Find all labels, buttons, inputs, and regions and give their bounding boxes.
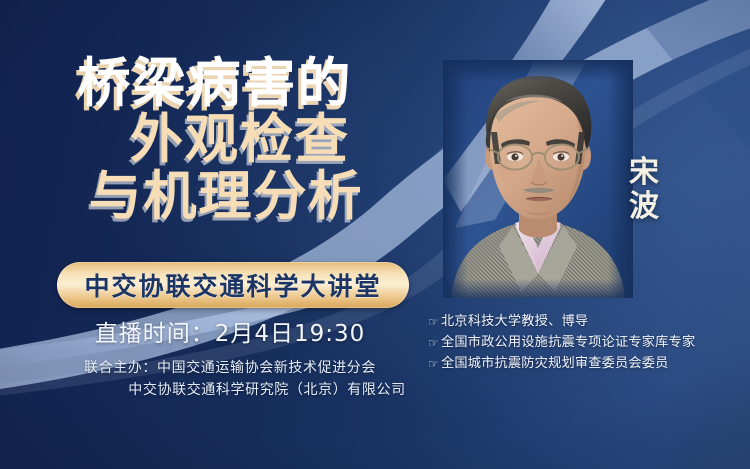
credential-item: ☞ 北京科技大学教授、博导 bbox=[428, 312, 743, 333]
credential-text: 全国市政公用设施抗震专项论证专家库专家 bbox=[441, 333, 695, 354]
page-title: 桥梁病害的 外观检查 与机理分析 bbox=[0, 58, 420, 223]
organizer-line-2: 中交协联交通科学研究院（北京）有限公司 bbox=[0, 380, 460, 402]
speaker-name-char-2: 波 bbox=[629, 190, 660, 224]
credential-text: 全国城市抗震防灾规划审查委员会委员 bbox=[441, 354, 669, 375]
speaker-credentials: ☞ 北京科技大学教授、博导 ☞ 全国市政公用设施抗震专项论证专家库专家 ☞ 全国… bbox=[428, 312, 743, 375]
title-line-3: 与机理分析 bbox=[0, 171, 420, 223]
speaker-portrait bbox=[443, 60, 633, 298]
pointing-hand-icon: ☞ bbox=[428, 334, 439, 353]
credential-item: ☞ 全国市政公用设施抗震专项论证专家库专家 bbox=[428, 333, 743, 354]
series-banner: 中交协联交通科学大讲堂 bbox=[57, 262, 409, 308]
portrait-illustration bbox=[443, 60, 633, 298]
series-banner-label: 中交协联交通科学大讲堂 bbox=[84, 267, 381, 303]
speaker-name-char-1: 宋 bbox=[629, 156, 660, 190]
webinar-poster: 桥梁病害的 外观检查 与机理分析 中交协联交通科学大讲堂 直播时间：2月4日19… bbox=[0, 0, 750, 469]
pointing-hand-icon: ☞ bbox=[428, 355, 439, 374]
pointing-hand-icon: ☞ bbox=[428, 313, 439, 332]
live-time: 直播时间：2月4日19:30 bbox=[0, 314, 460, 348]
credential-item: ☞ 全国城市抗震防灾规划审查委员会委员 bbox=[428, 354, 743, 375]
credential-text: 北京科技大学教授、博导 bbox=[441, 312, 588, 333]
speaker-name: 宋 波 bbox=[629, 156, 660, 223]
organizer-line-1: 联合主办：中国交通运输协会新技术促进分会 bbox=[0, 358, 460, 380]
organizers: 联合主办：中国交通运输协会新技术促进分会 中交协联交通科学研究院（北京）有限公司 bbox=[0, 358, 460, 401]
title-line-1: 桥梁病害的 bbox=[0, 58, 420, 110]
title-line-2: 外观检查 bbox=[0, 114, 420, 166]
